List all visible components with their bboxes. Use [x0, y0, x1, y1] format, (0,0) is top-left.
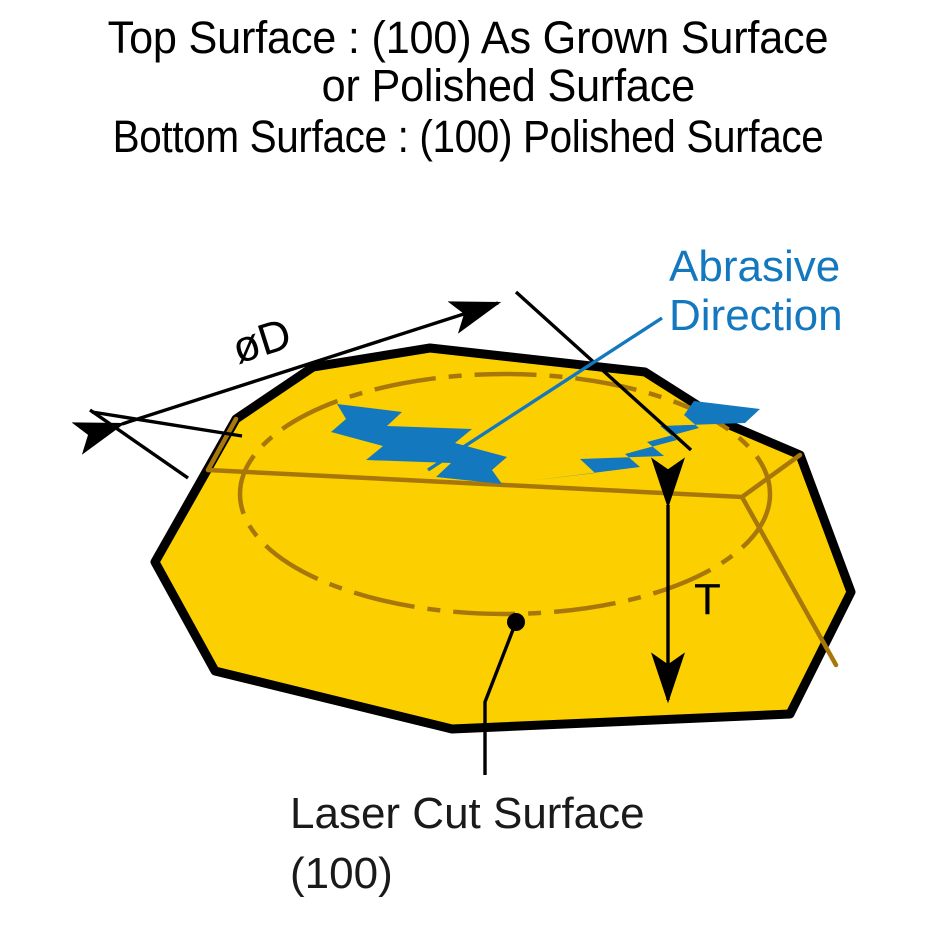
- abrasive-direction-label-line2: Direction: [669, 291, 843, 340]
- thickness-label: T: [694, 575, 721, 624]
- laser-cut-surface-label-line1: Laser Cut Surface: [290, 789, 645, 838]
- crystal-diagram: øD T Abrasive Direction Laser Cut Surfac…: [0, 0, 936, 937]
- laser-cut-surface-label-line2: (100): [290, 849, 393, 898]
- abrasive-direction-label-line1: Abrasive: [669, 242, 840, 291]
- diameter-extension-left: [92, 412, 242, 436]
- figure-canvas: Top Surface : (100) As Grown Surface or …: [0, 0, 936, 937]
- diameter-label: øD: [226, 309, 297, 373]
- crystal-outline: [155, 348, 851, 729]
- crystal-body: [155, 348, 851, 729]
